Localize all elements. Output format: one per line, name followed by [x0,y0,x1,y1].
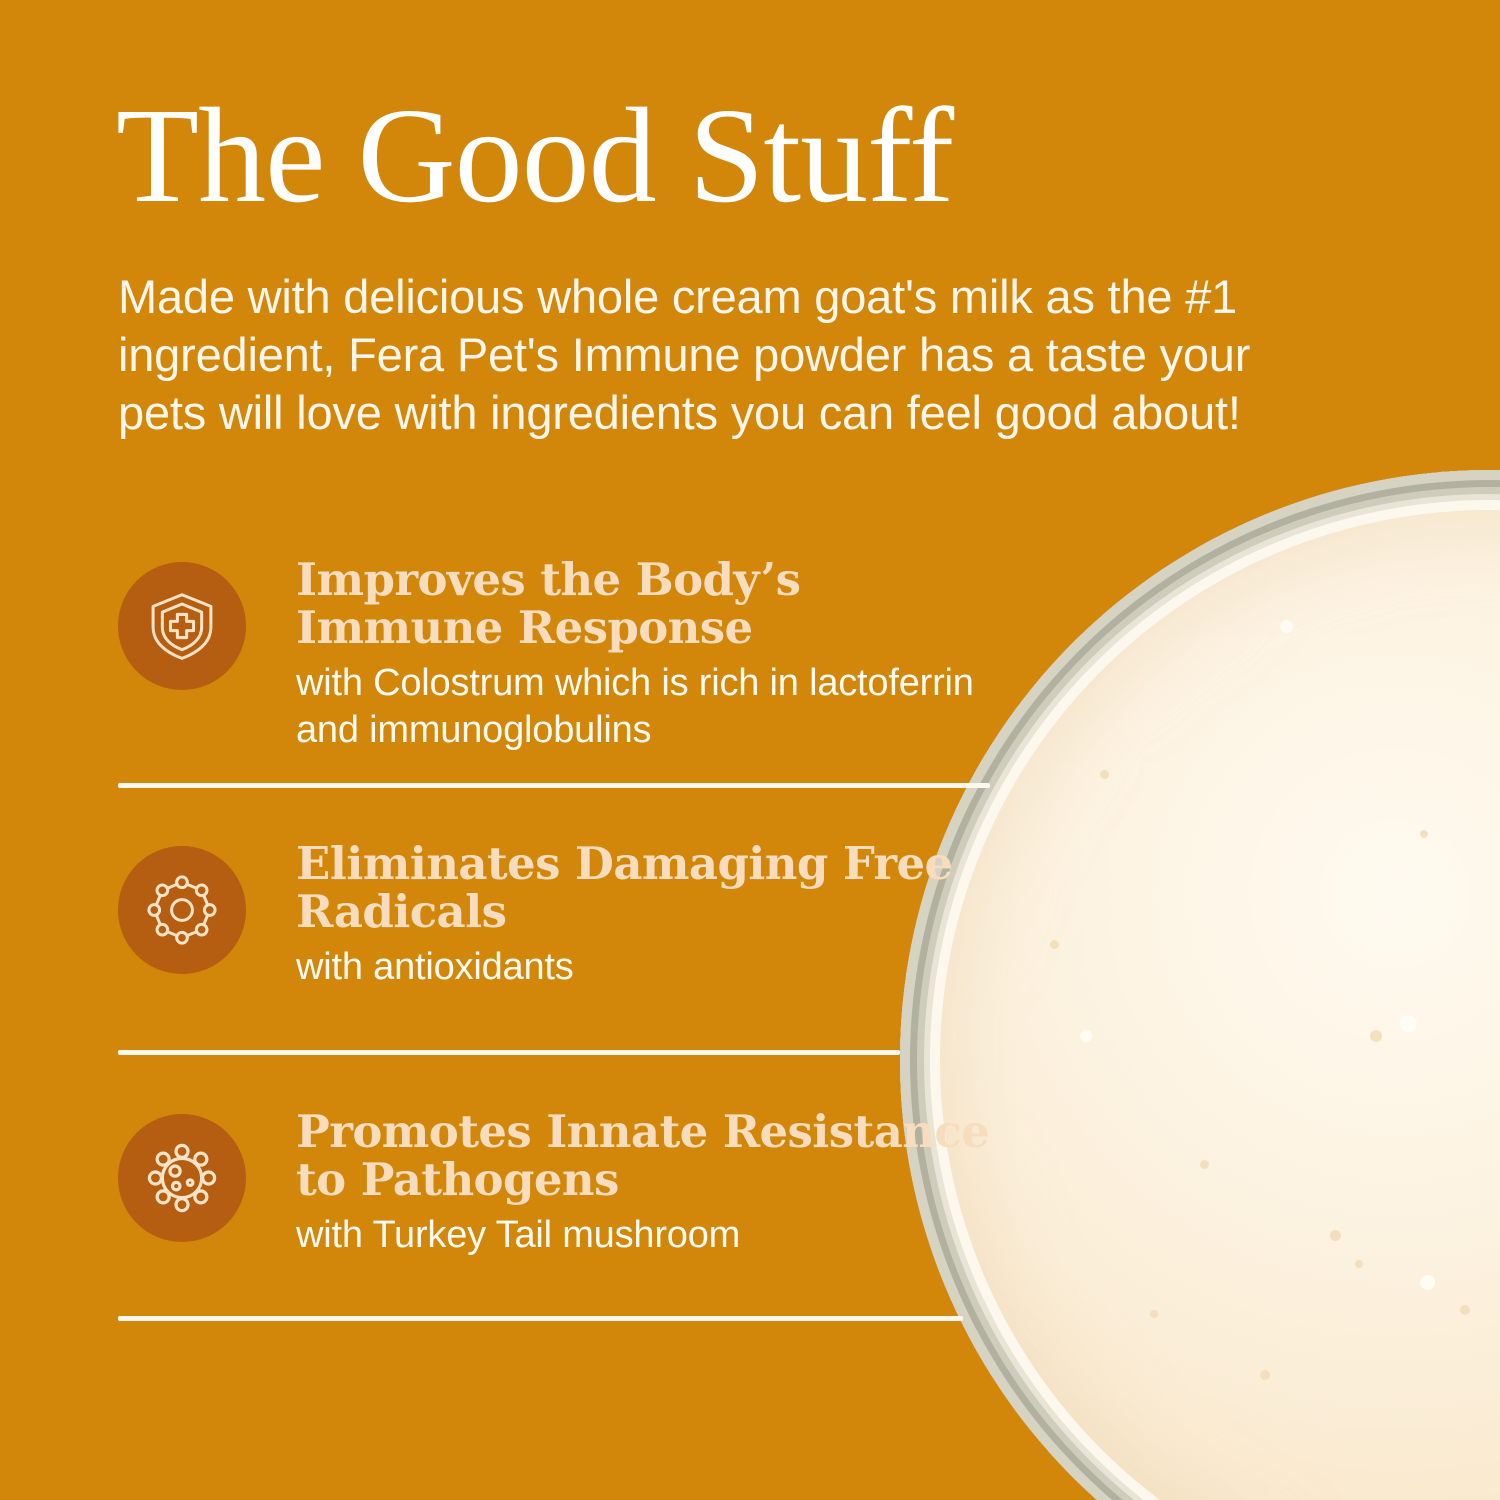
feature-text: Promotes Innate Resistance to Pathogens … [296,1108,1018,1259]
feature-heading: Improves the Body’s Immune Response [296,556,1018,651]
feature-text: Eliminates Damaging Free Radicals with a… [296,840,1018,991]
page-title: The Good Stuff [116,88,953,224]
powder-speckle [1400,1015,1417,1032]
feature-subtext: with Colostrum which is rich in lactofer… [296,660,1018,754]
intro-paragraph: Made with delicious whole cream goat's m… [118,268,1308,441]
powder-speckle [1280,620,1293,633]
powder-speckle [1420,830,1428,838]
good-stuff-infographic: The Good Stuff Made with delicious whole… [0,0,1500,1500]
feature-text: Improves the Body’s Immune Response with… [296,556,1018,755]
powder-speckle [1355,1260,1363,1268]
powder-speckle [1370,1030,1382,1042]
powder-speckle [1080,1030,1092,1042]
feature-heading: Promotes Innate Resistance to Pathogens [296,1108,1018,1203]
virus-pathogen-icon [118,1114,246,1242]
powder-speckle [1150,1310,1158,1318]
section-divider [118,1050,900,1055]
feature-heading: Eliminates Damaging Free Radicals [296,840,1018,935]
feature-row: Promotes Innate Resistance to Pathogens … [118,1108,1018,1259]
powder-speckle [1050,940,1059,949]
feature-row: Improves the Body’s Immune Response with… [118,556,1018,755]
molecule-ring-icon [118,846,246,974]
powder-speckle [1100,770,1109,779]
feature-subtext: with antioxidants [296,944,1018,991]
section-divider [118,783,990,788]
powder-speckle [1460,1305,1470,1315]
powder-speckle [1260,1370,1270,1380]
powder-speckle [1420,1275,1435,1290]
section-divider [118,1316,963,1321]
feature-row: Eliminates Damaging Free Radicals with a… [118,840,1018,991]
powder-speckle [1200,1160,1209,1169]
shield-cross-icon [118,562,246,690]
powder-speckle [1330,1230,1341,1241]
feature-subtext: with Turkey Tail mushroom [296,1212,1018,1259]
